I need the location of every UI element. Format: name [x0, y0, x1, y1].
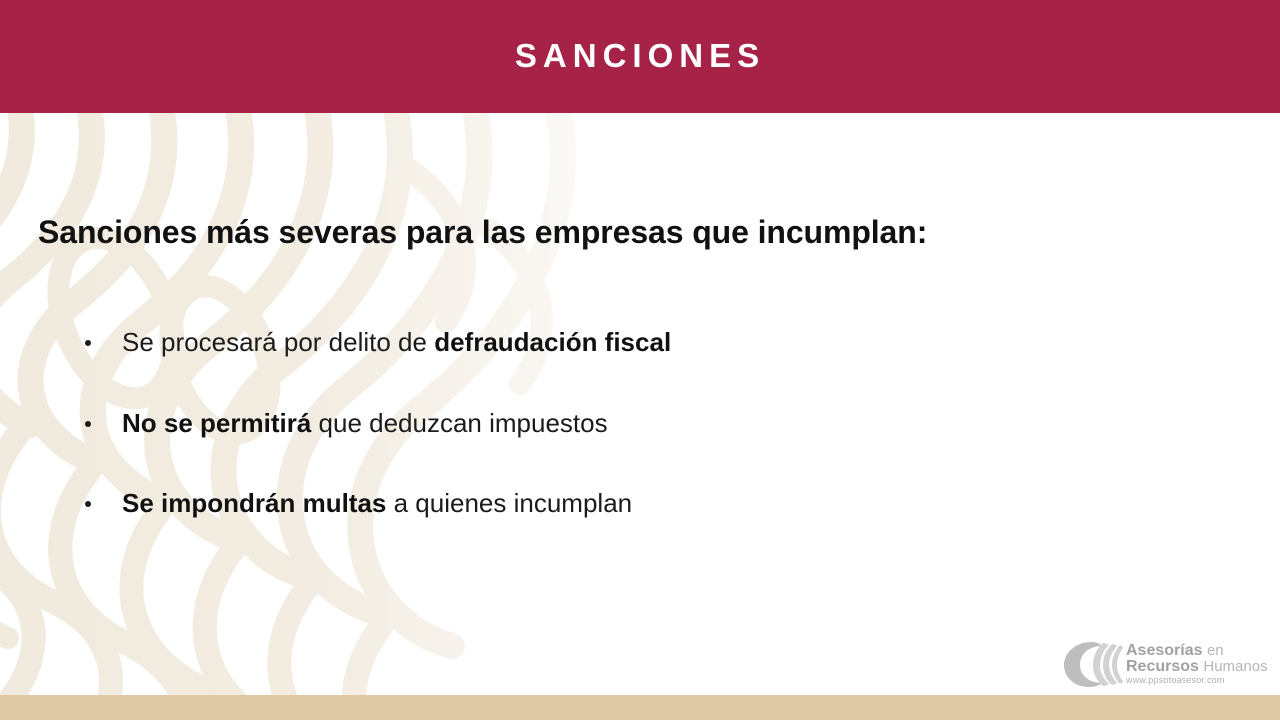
logo-line-1: Asesorías en	[1126, 643, 1268, 659]
bullet-text-emphasis: defraudación fiscal	[434, 327, 671, 357]
logo-line-2: Recursos Humanos	[1126, 659, 1268, 675]
bullet-text-plain: que deduzcan impuestos	[311, 408, 607, 438]
slide-canvas: SANCIONES Sanciones más severas para las…	[0, 0, 1280, 720]
slide-content: Sanciones más severas para las empresas …	[0, 113, 1280, 695]
logo-line2-light: Humanos	[1203, 658, 1267, 675]
bullet-text-plain: a quienes incumplan	[386, 488, 632, 518]
footer-bar	[0, 695, 1280, 720]
bullet-text-plain: Se procesará por delito de	[122, 327, 434, 357]
list-item: Se impondrán multas a quienes incumplan	[82, 488, 1202, 519]
header-bar: SANCIONES	[0, 0, 1280, 113]
list-item: Se procesará por delito de defraudación …	[82, 327, 1202, 358]
bullet-text-emphasis: Se impondrán multas	[122, 488, 386, 518]
lead-heading: Sanciones más severas para las empresas …	[38, 214, 927, 251]
company-logo: Asesorías en Recursos Humanos www.ppsoto…	[1062, 636, 1270, 692]
bullet-dot-icon	[85, 421, 91, 427]
logo-url: www.ppsotoasesor.com	[1126, 676, 1268, 685]
three-wave-arcs-icon	[1062, 638, 1124, 690]
bullet-dot-icon	[85, 501, 91, 507]
list-item: No se permitirá que deduzcan impuestos	[82, 408, 1202, 439]
logo-wordmark: Asesorías en Recursos Humanos www.ppsoto…	[1126, 643, 1268, 686]
logo-line1-light: en	[1207, 642, 1224, 659]
sanctions-bullet-list: Se procesará por delito de defraudación …	[82, 327, 1202, 519]
bullet-dot-icon	[85, 340, 91, 346]
logo-line1-strong: Asesorías	[1126, 642, 1203, 659]
page-title: SANCIONES	[515, 39, 765, 74]
logo-line2-strong: Recursos	[1126, 658, 1199, 675]
bullet-text-emphasis: No se permitirá	[122, 408, 311, 438]
